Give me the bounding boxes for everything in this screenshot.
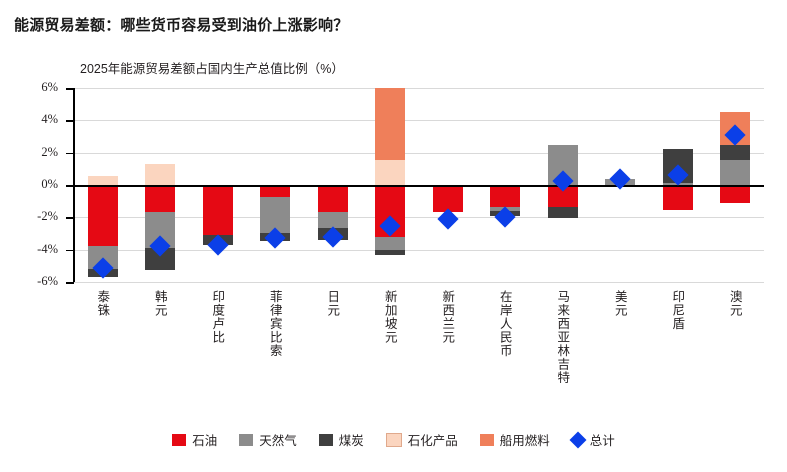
legend-label: 天然气 — [259, 430, 297, 449]
legend-label: 石油 — [192, 430, 217, 449]
bar-segment-oil[interactable] — [145, 185, 175, 212]
bar-segment-oil[interactable] — [260, 185, 290, 197]
legend-item[interactable]: 石化产品 — [386, 430, 458, 449]
chart-plot-area — [74, 88, 764, 282]
x-axis-label: 新加坡元 — [383, 290, 396, 344]
bar-segment-coal[interactable] — [548, 207, 578, 218]
zero-baseline — [68, 185, 764, 187]
bar-segment-coal[interactable] — [375, 250, 405, 255]
legend-swatch-icon — [239, 434, 253, 446]
legend-item[interactable]: 石油 — [172, 430, 217, 449]
legend-label: 总计 — [590, 430, 615, 449]
x-axis-label: 日元 — [326, 290, 339, 317]
bar-segment-coal[interactable] — [720, 145, 750, 160]
x-axis-label: 美元 — [613, 290, 626, 317]
legend-label: 船用燃料 — [500, 430, 550, 449]
legend-swatch-icon — [319, 434, 333, 446]
total-marker[interactable] — [610, 169, 631, 190]
x-axis-label: 印尼盾 — [671, 290, 684, 331]
gridline — [74, 88, 764, 89]
y-axis-tick — [66, 282, 74, 284]
x-axis-label: 印度卢比 — [211, 290, 224, 344]
legend-swatch-icon — [386, 433, 402, 447]
bar-segment-oil[interactable] — [88, 185, 118, 246]
y-axis-tick-label: -2% — [0, 209, 58, 224]
x-axis-label: 韩元 — [153, 290, 166, 317]
bar-segment-oil[interactable] — [720, 185, 750, 203]
y-axis-tick-label: 6% — [0, 80, 58, 95]
y-axis-tick-label: -6% — [0, 274, 58, 289]
y-axis-tick — [66, 217, 74, 219]
y-axis-tick-label: 2% — [0, 145, 58, 160]
y-axis-tick — [66, 250, 74, 252]
legend-item[interactable]: 天然气 — [239, 430, 297, 449]
y-axis-tick — [66, 185, 74, 187]
gridline — [74, 153, 764, 154]
gridline — [74, 217, 764, 218]
y-axis-tick — [66, 153, 74, 155]
page-title: 能源贸易差额：哪些货币容易受到油价上涨影响？ — [14, 14, 348, 35]
y-axis-tick-label: 4% — [0, 112, 58, 127]
legend-label: 煤炭 — [339, 430, 364, 449]
legend-swatch-icon — [172, 434, 186, 446]
legend-label: 石化产品 — [408, 430, 458, 449]
legend-swatch-icon — [569, 431, 586, 448]
gridline — [74, 250, 764, 251]
legend-item[interactable]: 船用燃料 — [480, 430, 550, 449]
x-axis-label: 澳元 — [728, 290, 741, 317]
y-axis-tick — [66, 120, 74, 122]
gridline — [74, 282, 764, 283]
bar-segment-gas[interactable] — [375, 237, 405, 250]
gridline — [74, 120, 764, 121]
bar-segment-petrochem[interactable] — [88, 176, 118, 185]
bar-segment-oil[interactable] — [318, 185, 348, 212]
x-axis-label: 在岸人民币 — [498, 290, 511, 358]
y-axis-tick-label: -4% — [0, 242, 58, 257]
legend-swatch-icon — [480, 434, 494, 446]
y-axis-tick-label: 0% — [0, 177, 58, 192]
chart-legend: 石油天然气煤炭石化产品船用燃料总计 — [0, 430, 787, 449]
bar-segment-oil[interactable] — [203, 185, 233, 235]
x-axis-label: 泰铢 — [96, 290, 109, 317]
legend-item[interactable]: 煤炭 — [319, 430, 364, 449]
bar-segment-oil[interactable] — [490, 185, 520, 207]
bar-segment-petrochem[interactable] — [145, 164, 175, 185]
y-axis-tick — [66, 88, 74, 90]
bar-segment-petrochem[interactable] — [375, 160, 405, 185]
x-axis-label: 新西兰元 — [441, 290, 454, 344]
x-axis-label: 菲律宾比索 — [268, 290, 281, 358]
x-axis-label: 马来西亚林吉特 — [556, 290, 569, 385]
chart-subtitle: 2025年能源贸易差额占国内生产总值比例（%） — [80, 58, 344, 77]
legend-item[interactable]: 总计 — [572, 430, 615, 449]
bar-segment-marine[interactable] — [375, 88, 405, 160]
bar-segment-oil[interactable] — [663, 185, 693, 210]
bar-segment-gas[interactable] — [720, 160, 750, 185]
